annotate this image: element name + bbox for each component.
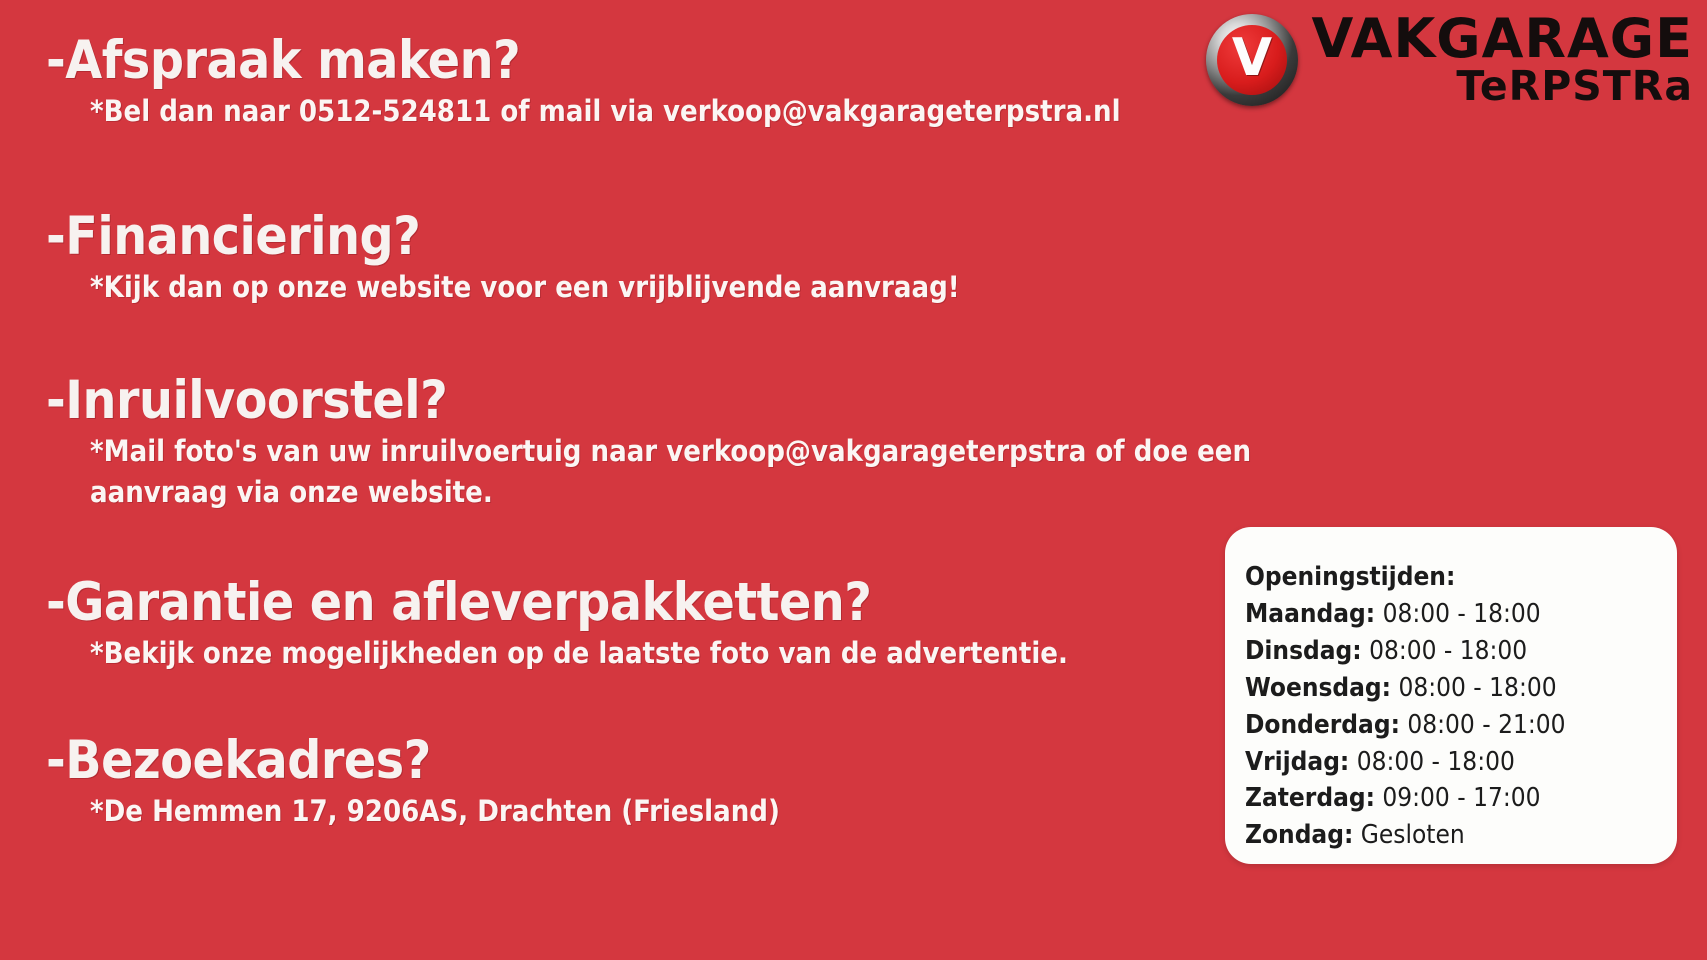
hours-time-value: 08:00 - 18:00 [1357,747,1515,777]
opening-hours-row: Maandag: 08:00 - 18:00 [1245,596,1677,633]
vakgarage-emblem-icon: V [1206,14,1298,106]
logo-monogram-v: V [1232,32,1271,84]
heading-inruilvoorstel: -Inruilvoorstel? [46,374,1280,427]
opening-hours-row: Zaterdag: 09:00 - 17:00 [1245,780,1677,817]
answer-financiering: *Kijk dan op onze website voor een vrijb… [90,267,960,308]
hours-day-label: Woensdag: [1245,673,1391,703]
hours-time-value: 08:00 - 18:00 [1369,636,1527,666]
hours-time-value: 08:00 - 18:00 [1398,673,1556,703]
hours-time-value: 08:00 - 18:00 [1383,599,1541,629]
hours-time-value: 08:00 - 21:00 [1407,710,1565,740]
opening-hours-row: Dinsdag: 08:00 - 18:00 [1245,633,1677,670]
logo-wordmark: VAKGARAGE TeRPSTRa [1312,14,1693,105]
advertisement-slide: V VAKGARAGE TeRPSTRa -Afspraak maken? *B… [0,0,1707,960]
opening-hours-row: Woensdag: 08:00 - 18:00 [1245,670,1677,707]
heading-garantie-afleverpakketten: -Garantie en afleverpakketten? [46,576,1068,629]
hours-day-label: Maandag: [1245,599,1375,629]
opening-hours-list: Openingstijden: Maandag: 08:00 - 18:00 D… [1225,527,1677,854]
opening-hours-panel: Openingstijden: Maandag: 08:00 - 18:00 D… [1225,527,1677,864]
hours-day-label: Zaterdag: [1245,783,1375,813]
opening-hours-row: Vrijdag: 08:00 - 18:00 [1245,744,1677,781]
heading-financiering: -Financiering? [46,210,960,263]
answer-inruilvoorstel: *Mail foto's van uw inruilvoertuig naar … [90,431,1280,513]
opening-hours-title: Openingstijden: [1245,559,1677,596]
heading-bezoekadres: -Bezoekadres? [46,734,780,787]
hours-day-label: Donderdag: [1245,710,1400,740]
block-financiering: -Financiering? *Kijk dan op onze website… [46,210,960,308]
answer-afspraak-maken: *Bel dan naar 0512-524811 of mail via ve… [90,91,1121,132]
hours-time-value: 09:00 - 17:00 [1382,783,1540,813]
logo-dealer-name: TeRPSTRa [1312,67,1693,106]
hours-time-value: Gesloten [1361,820,1465,850]
answer-bezoekadres: *De Hemmen 17, 9206AS, Drachten (Friesla… [90,791,780,832]
vakgarage-emblem-inner: V [1217,25,1287,95]
hours-day-label: Vrijdag: [1245,747,1349,777]
block-inruilvoorstel: -Inruilvoorstel? *Mail foto's van uw inr… [46,374,1280,513]
hours-day-label: Dinsdag: [1245,636,1362,666]
logo-brand-name: VAKGARAGE [1312,14,1693,65]
opening-hours-row: Donderdag: 08:00 - 21:00 [1245,707,1677,744]
block-garantie-afleverpakketten: -Garantie en afleverpakketten? *Bekijk o… [46,576,1068,674]
heading-afspraak-maken: -Afspraak maken? [46,34,1121,87]
answer-garantie-afleverpakketten: *Bekijk onze mogelijkheden op de laatste… [90,633,1068,674]
block-afspraak-maken: -Afspraak maken? *Bel dan naar 0512-5248… [46,34,1121,132]
block-bezoekadres: -Bezoekadres? *De Hemmen 17, 9206AS, Dra… [46,734,780,832]
opening-hours-row: Zondag: Gesloten [1245,817,1677,854]
hours-day-label: Zondag: [1245,820,1353,850]
vakgarage-terpstra-logo: V VAKGARAGE TeRPSTRa [1206,14,1693,106]
